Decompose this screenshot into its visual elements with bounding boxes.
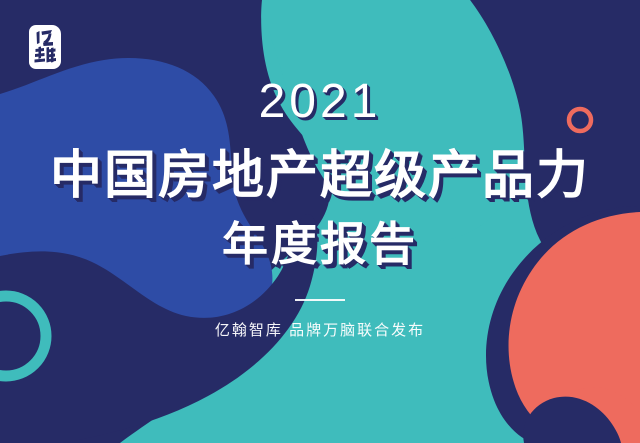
poster-canvas: 2021 中国房地产超级产品力 年度报告 亿翰智库 品牌万脑联合发布 bbox=[0, 0, 640, 443]
yihan-logo bbox=[29, 25, 61, 69]
background-artwork bbox=[0, 0, 640, 443]
publisher-credit: 亿翰智库 品牌万脑联合发布 bbox=[0, 320, 640, 342]
logo-glyph-icon bbox=[29, 25, 61, 69]
title-divider bbox=[295, 299, 345, 301]
